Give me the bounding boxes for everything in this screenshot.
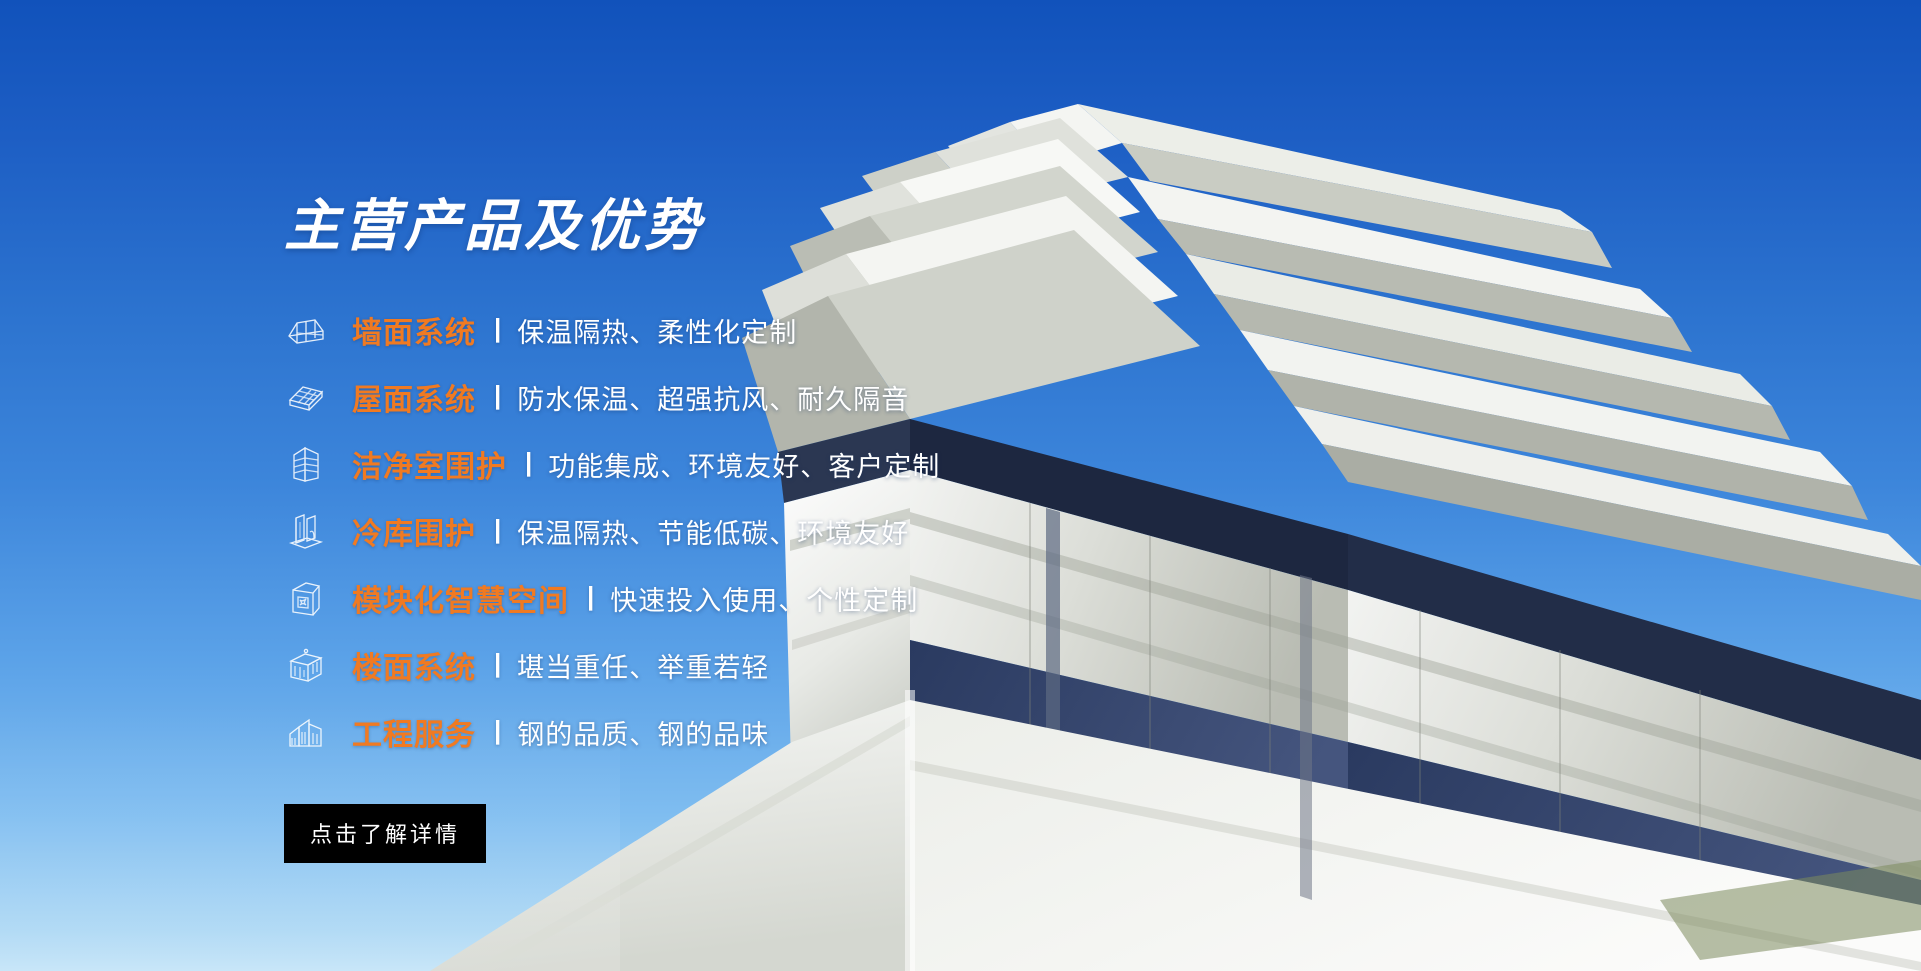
feature-separator: | — [587, 581, 594, 612]
feature-separator: | — [494, 514, 501, 545]
list-item[interactable]: 屋面系统 | 防水保温、超强抗风、耐久隔音 — [284, 364, 1144, 431]
list-item[interactable]: 模块化智慧空间 | 快速投入使用、个性定制 — [284, 565, 1144, 632]
feature-separator: | — [494, 313, 501, 344]
feature-separator: | — [525, 447, 532, 478]
feature-description: 堪当重任、举重若轻 — [517, 646, 769, 685]
wall-panel-icon — [284, 308, 328, 352]
feature-title: 墙面系统 — [352, 308, 476, 352]
list-item[interactable]: 工程服务 | 钢的品质、钢的品味 — [284, 699, 1144, 766]
feature-description: 钢的品质、钢的品味 — [517, 713, 769, 752]
feature-description: 快速投入使用、个性定制 — [610, 579, 918, 618]
feature-title: 冷库围护 — [352, 509, 476, 553]
roof-panel-icon — [284, 375, 328, 419]
list-item[interactable]: 洁净室围护 | 功能集成、环境友好、客户定制 — [284, 431, 1144, 498]
feature-separator: | — [494, 715, 501, 746]
cleanroom-building-icon — [284, 442, 328, 486]
feature-title: 洁净室围护 — [352, 442, 507, 486]
engineering-service-icon — [284, 710, 328, 754]
list-item[interactable]: 墙面系统 | 保温隔热、柔性化定制 — [284, 297, 1144, 364]
cold-storage-icon — [284, 509, 328, 553]
list-item[interactable]: 冷库围护 | 保温隔热、节能低碳、环境友好 — [284, 498, 1144, 565]
feature-separator: | — [494, 380, 501, 411]
feature-separator: | — [494, 648, 501, 679]
floor-system-icon — [284, 643, 328, 687]
feature-title: 模块化智慧空间 — [352, 576, 569, 620]
feature-list: 墙面系统 | 保温隔热、柔性化定制 屋面系统 — [284, 297, 1144, 766]
feature-description: 防水保温、超强抗风、耐久隔音 — [517, 378, 909, 417]
hero-banner: 主营产品及优势 墙面系统 | 保温隔热、柔性化定制 — [0, 0, 1921, 971]
page-title: 主营产品及优势 — [284, 198, 1144, 257]
feature-title: 工程服务 — [352, 710, 476, 754]
modular-cube-icon — [284, 576, 328, 620]
hero-content: 主营产品及优势 墙面系统 | 保温隔热、柔性化定制 — [284, 198, 1144, 863]
learn-more-button[interactable]: 点击了解详情 — [284, 804, 486, 863]
feature-description: 功能集成、环境友好、客户定制 — [548, 445, 940, 484]
feature-title: 屋面系统 — [352, 375, 476, 419]
feature-description: 保温隔热、柔性化定制 — [517, 311, 797, 350]
list-item[interactable]: 楼面系统 | 堪当重任、举重若轻 — [284, 632, 1144, 699]
feature-title: 楼面系统 — [352, 643, 476, 687]
feature-description: 保温隔热、节能低碳、环境友好 — [517, 512, 909, 551]
